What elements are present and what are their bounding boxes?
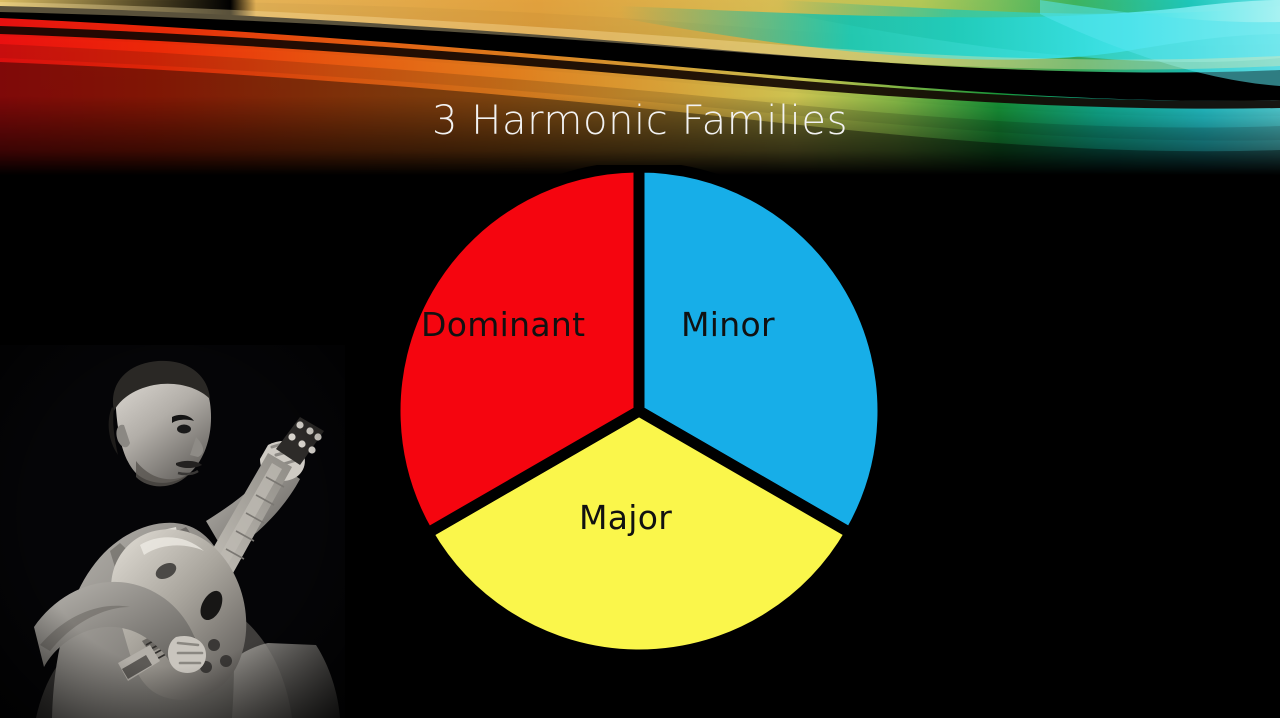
- pie-label-dominant: Dominant: [421, 305, 585, 344]
- harmonic-families-pie-chart: Dominant Minor Major: [393, 165, 885, 657]
- presentation-slide: 3 Harmonic Families Dominant Minor Major: [0, 0, 1280, 718]
- pie-label-major: Major: [579, 498, 672, 537]
- slide-title: 3 Harmonic Families: [0, 98, 1280, 144]
- jazz-guitarist-photo: [0, 345, 345, 718]
- pie-label-minor: Minor: [681, 305, 775, 344]
- abstract-wave-banner: [0, 0, 1280, 175]
